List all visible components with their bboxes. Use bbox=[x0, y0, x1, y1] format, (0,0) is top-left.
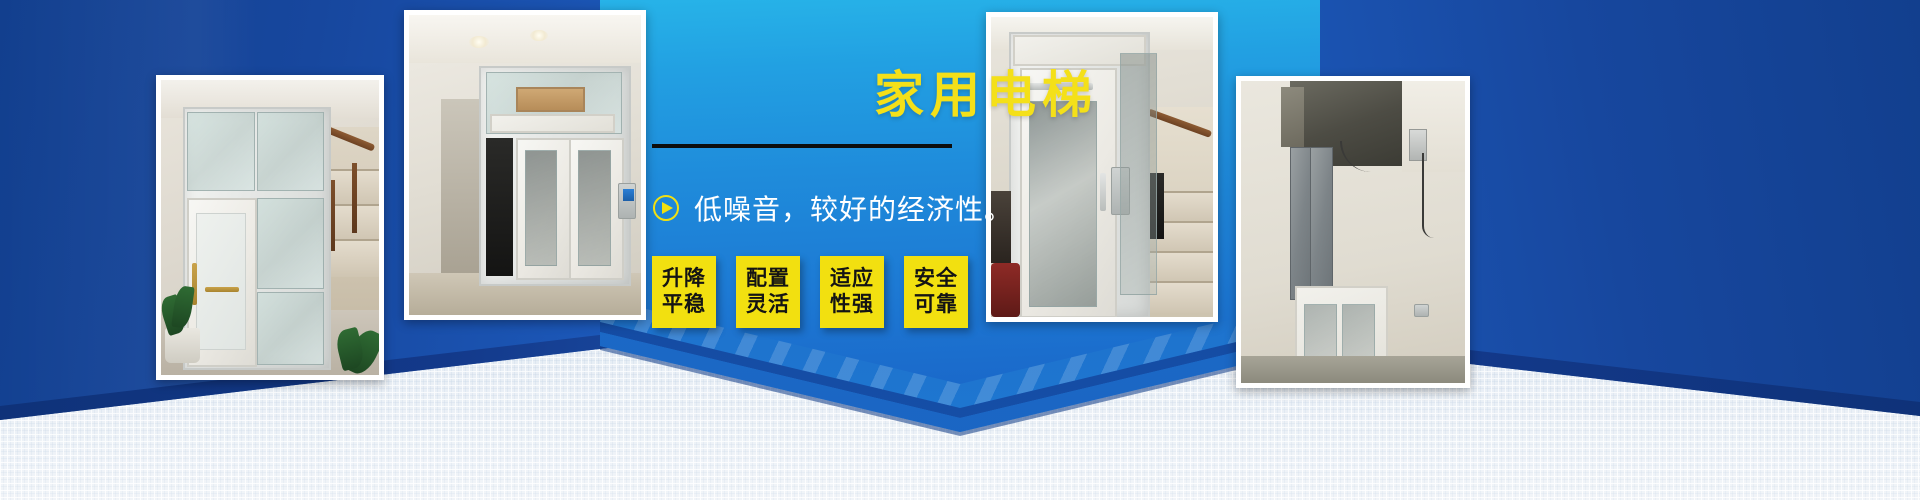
badge-line-1: 配置 bbox=[738, 266, 798, 292]
photo-home-elevator-double-door-lobby bbox=[404, 10, 646, 320]
badge-line-1: 安全 bbox=[906, 266, 966, 292]
home-elevator-banner: 家用电梯 低噪音，较好的经济性。 升降 平稳 配置 灵活 适应 性强 bbox=[0, 0, 1920, 500]
photo-2-image bbox=[409, 15, 641, 315]
badge-line-2: 可靠 bbox=[906, 292, 966, 318]
title-divider bbox=[652, 144, 952, 148]
badge-line-2: 性强 bbox=[822, 292, 882, 318]
banner-content: 家用电梯 低噪音，较好的经济性。 升降 平稳 配置 灵活 适应 性强 bbox=[652, 70, 1272, 328]
feature-badge-list: 升降 平稳 配置 灵活 适应 性强 安全 可靠 bbox=[652, 256, 1272, 328]
banner-subtitle: 低噪音，较好的经济性。 bbox=[694, 188, 1013, 228]
feature-badge[interactable]: 安全 可靠 bbox=[904, 256, 968, 328]
feature-badge[interactable]: 适应 性强 bbox=[820, 256, 884, 328]
circled-play-arrow-icon bbox=[652, 194, 680, 222]
photo-4-image bbox=[1241, 81, 1465, 383]
banner-title: 家用电梯 bbox=[652, 70, 1272, 120]
photo-1-image bbox=[161, 80, 379, 375]
badge-line-2: 平稳 bbox=[654, 292, 714, 318]
badge-line-1: 适应 bbox=[822, 266, 882, 292]
badge-line-2: 灵活 bbox=[738, 292, 798, 318]
feature-badge[interactable]: 升降 平稳 bbox=[652, 256, 716, 328]
badge-line-1: 升降 bbox=[654, 266, 714, 292]
subtitle-row: 低噪音，较好的经济性。 bbox=[652, 188, 1272, 228]
photo-home-elevator-glass-shaft-with-plant bbox=[156, 75, 384, 380]
feature-badge[interactable]: 配置 灵活 bbox=[736, 256, 800, 328]
